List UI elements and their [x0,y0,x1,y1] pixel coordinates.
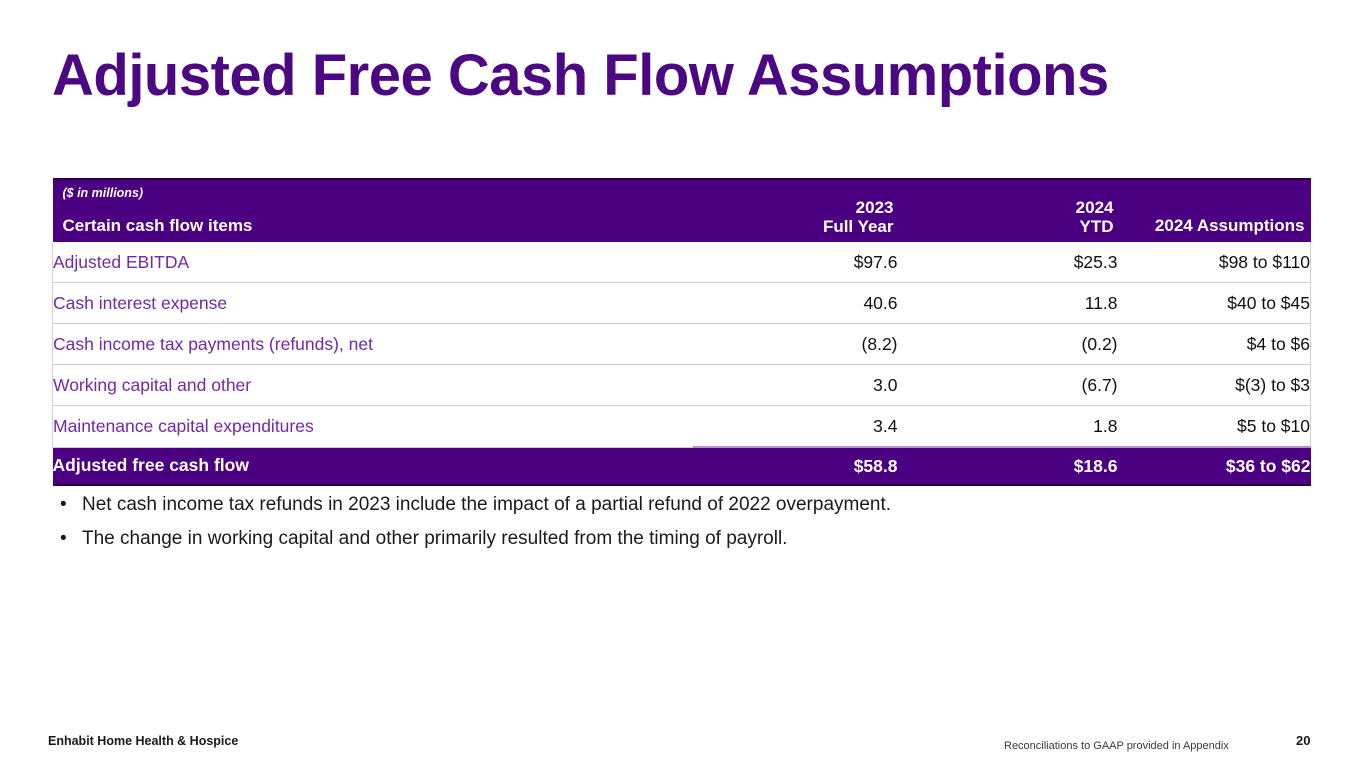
table-header-fy2023: 2023 Full Year [693,179,898,242]
row-fy2023: $97.6 [693,242,898,283]
list-item: The change in working capital and other … [54,522,1154,556]
table-row: Maintenance capital expenditures 3.4 1.8… [53,406,1311,448]
page-title: Adjusted Free Cash Flow Assumptions [52,42,1109,109]
table-row: Working capital and other 3.0 (6.7) $(3)… [53,365,1311,406]
row-ytd2024: 1.8 [898,406,1118,448]
row-label: Cash interest expense [53,283,693,324]
row-ytd2024: (0.2) [898,324,1118,365]
table-header-ytd2024: 2024 YTD [898,179,1118,242]
footer-brand: Enhabit Home Health & Hospice [48,734,238,748]
total-fy2023: $58.8 [693,447,898,485]
table-row: Cash income tax payments (refunds), net … [53,324,1311,365]
row-assumptions: $98 to $110 [1118,242,1311,283]
row-label: Maintenance capital expenditures [53,406,693,448]
row-label: Working capital and other [53,365,693,406]
row-fy2023: 40.6 [693,283,898,324]
table-row: Cash interest expense 40.6 11.8 $40 to $… [53,283,1311,324]
row-assumptions: $4 to $6 [1118,324,1311,365]
table-body: Adjusted EBITDA $97.6 $25.3 $98 to $110 … [53,242,1311,485]
row-ytd2024: 11.8 [898,283,1118,324]
row-fy2023: 3.4 [693,406,898,448]
row-fy2023: 3.0 [693,365,898,406]
row-assumptions: $(3) to $3 [1118,365,1311,406]
footnote-bullet-list: Net cash income tax refunds in 2023 incl… [54,488,1154,556]
total-label: Adjusted free cash flow [53,447,693,485]
table-total-row: Adjusted free cash flow $58.8 $18.6 $36 … [53,447,1311,485]
table-header-label-cell: ($ in millions) Certain cash flow items [53,179,693,242]
total-ytd2024: $18.6 [898,447,1118,485]
table-header-label: Certain cash flow items [63,216,693,242]
page-number: 20 [1296,733,1310,748]
table-row: Adjusted EBITDA $97.6 $25.3 $98 to $110 [53,242,1311,283]
table-header-assumptions: 2024 Assumptions [1118,179,1311,242]
table-header-row: ($ in millions) Certain cash flow items … [53,179,1311,242]
footer-note: Reconciliations to GAAP provided in Appe… [1004,740,1229,752]
row-ytd2024: $25.3 [898,242,1118,283]
units-note: ($ in millions) [63,186,144,200]
cash-flow-table: ($ in millions) Certain cash flow items … [52,178,1311,486]
total-assumptions: $36 to $62 [1118,447,1311,485]
row-ytd2024: (6.7) [898,365,1118,406]
row-assumptions: $40 to $45 [1118,283,1311,324]
row-label: Cash income tax payments (refunds), net [53,324,693,365]
row-label: Adjusted EBITDA [53,242,693,283]
row-assumptions: $5 to $10 [1118,406,1311,448]
row-fy2023: (8.2) [693,324,898,365]
list-item: Net cash income tax refunds in 2023 incl… [54,488,1154,522]
